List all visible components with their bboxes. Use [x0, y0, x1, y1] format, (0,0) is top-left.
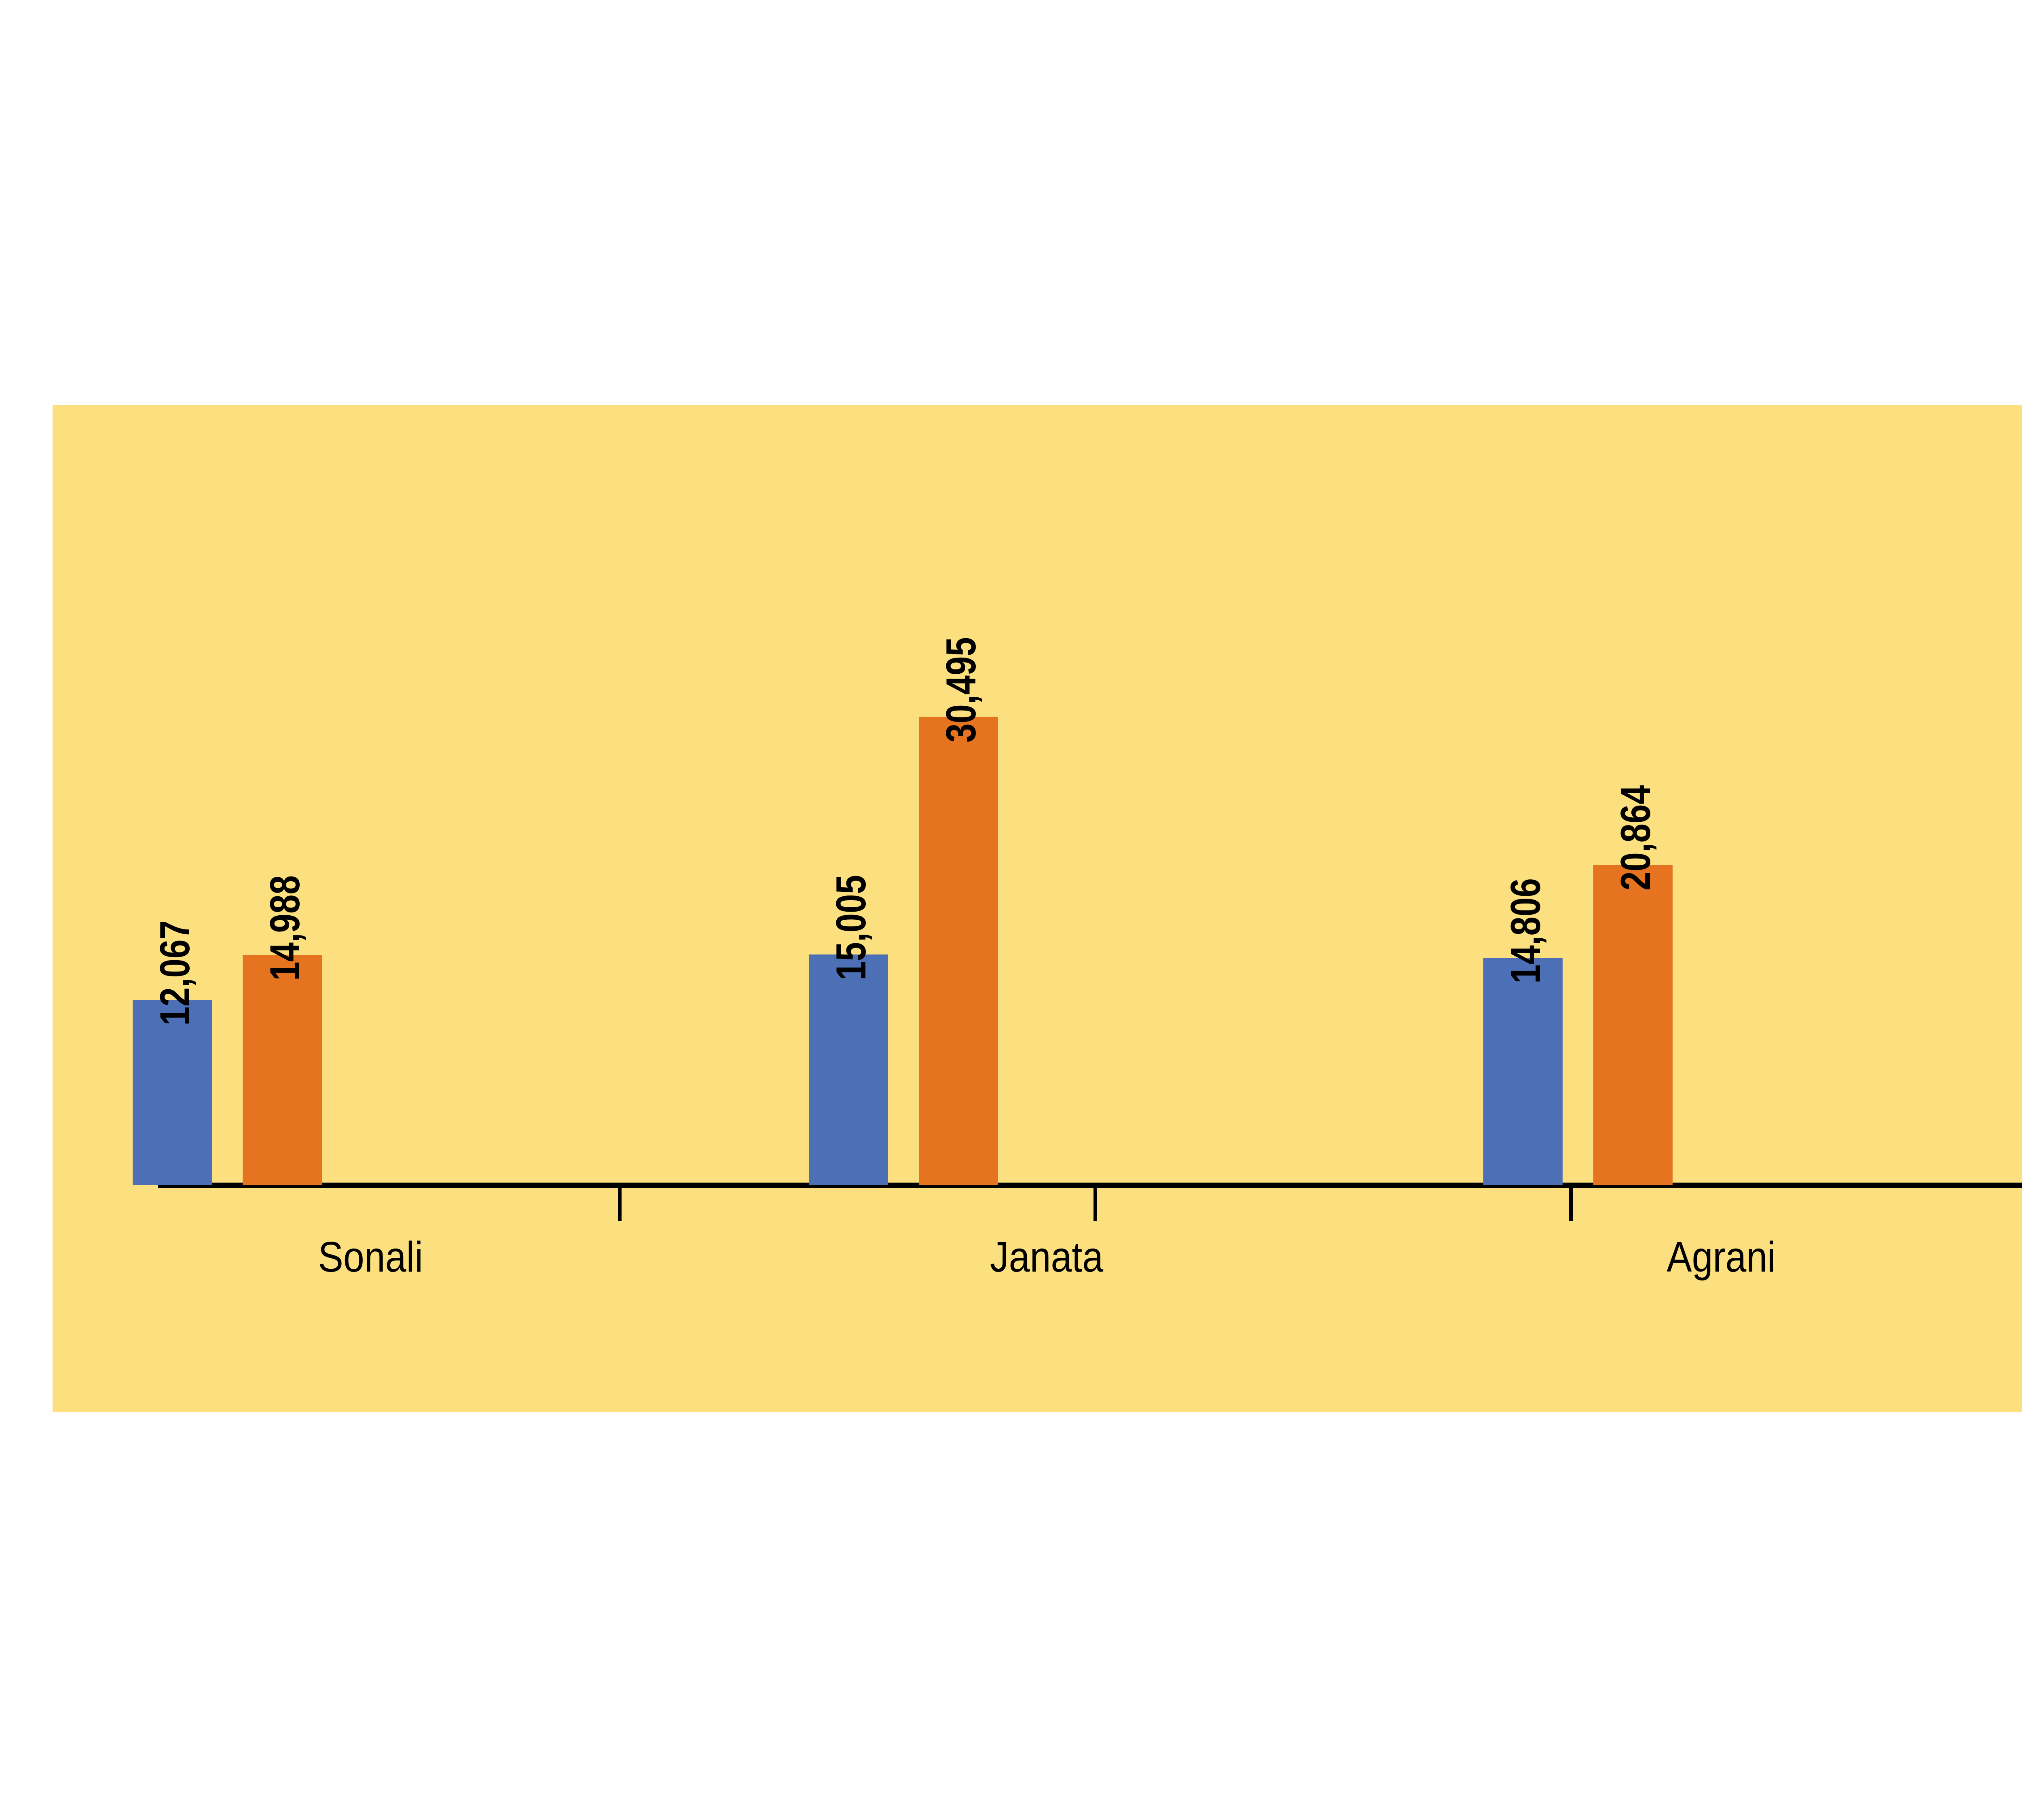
chart-panel [53, 405, 2022, 1412]
infographic-root: BAD LOANS AT STATE BANKS In crore taka;S… [0, 0, 2022, 1820]
